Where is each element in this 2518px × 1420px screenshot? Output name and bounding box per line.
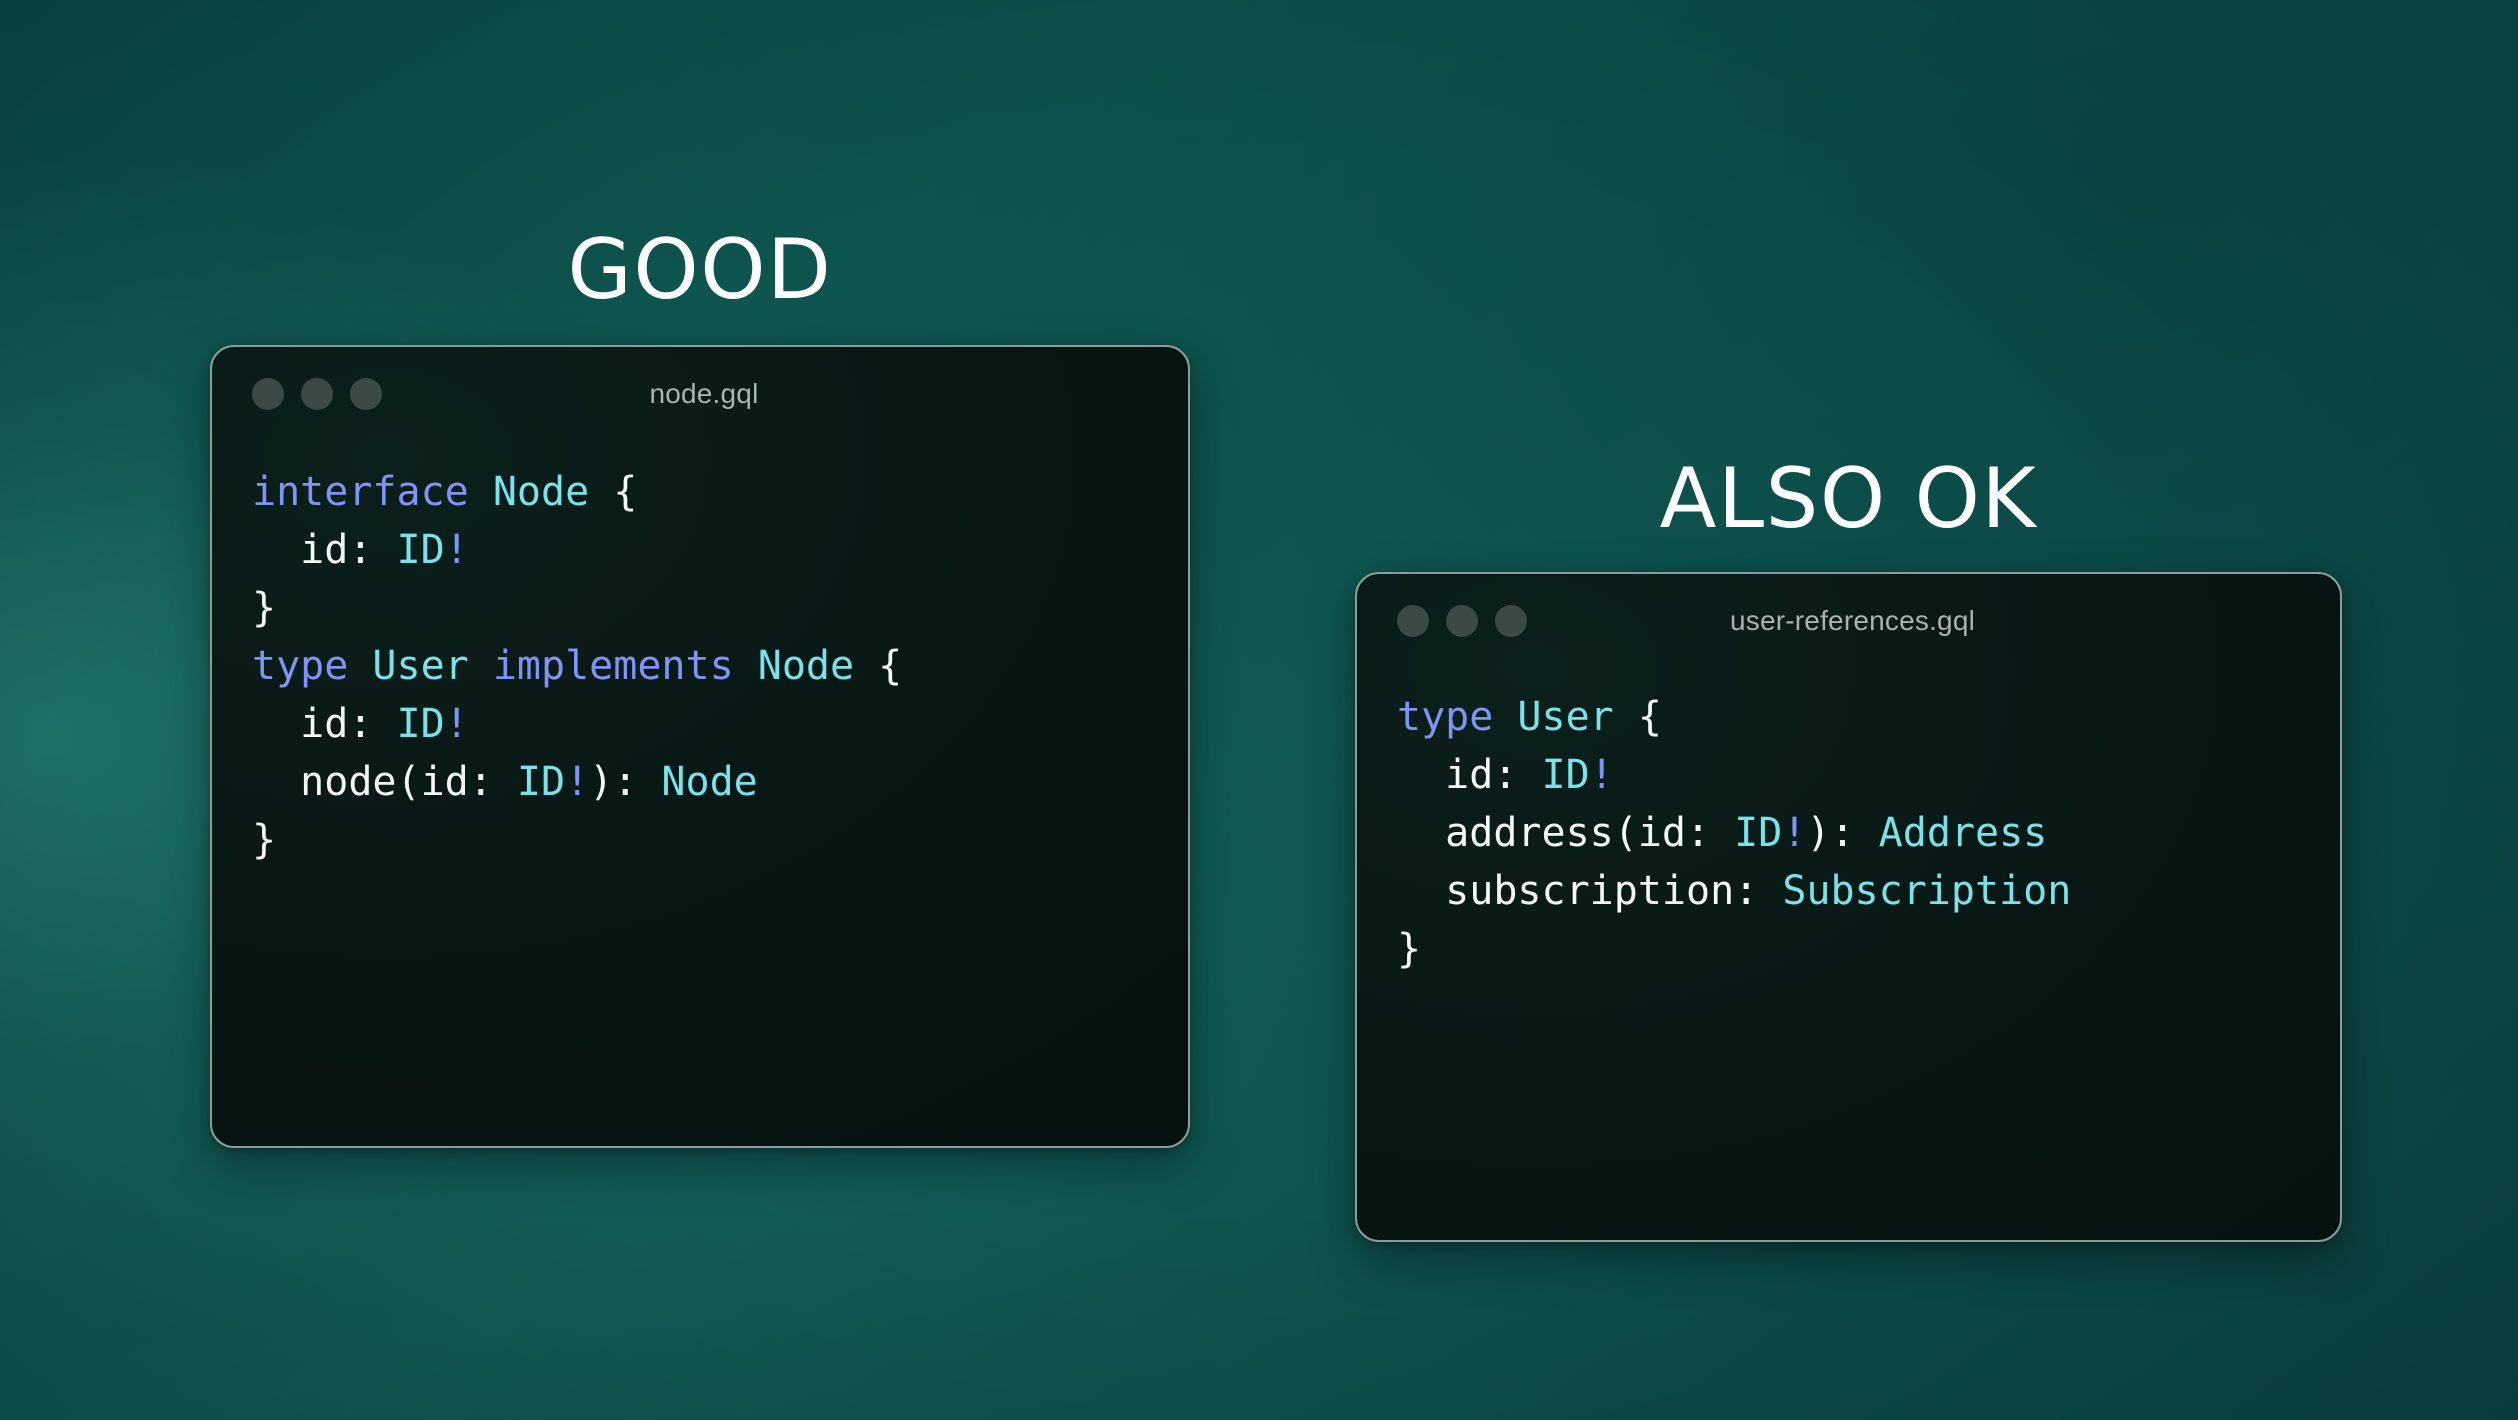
code-token-type: ID xyxy=(1734,810,1782,856)
code-token-plain xyxy=(348,643,372,689)
code-token-plain xyxy=(734,643,758,689)
code-token-plain: { xyxy=(854,643,902,689)
window-dot-close-icon[interactable] xyxy=(252,378,284,410)
code-token-plain xyxy=(469,469,493,515)
code-token-type: ID xyxy=(1542,752,1590,798)
window-controls xyxy=(252,378,382,410)
code-token-plain: { xyxy=(589,469,637,515)
code-line: node(id: ID!): Node xyxy=(252,753,1188,811)
code-line: address(id: ID!): Address xyxy=(1397,804,2340,862)
panel-heading-also-ok: ALSO OK xyxy=(1355,454,2342,544)
window-dot-maximize-icon[interactable] xyxy=(350,378,382,410)
panel-also-ok: ALSO OK user-references.gql type User { … xyxy=(1355,572,2342,1242)
window-dot-maximize-icon[interactable] xyxy=(1495,605,1527,637)
code-token-type: Address xyxy=(1879,810,2048,856)
code-card-also-ok: user-references.gql type User { id: ID! … xyxy=(1355,572,2342,1242)
code-token-plain: } xyxy=(252,585,276,631)
code-token-plain xyxy=(1493,694,1517,740)
code-token-bang: ! xyxy=(445,701,469,747)
code-token-plain: { xyxy=(1614,694,1662,740)
code-line: } xyxy=(252,579,1188,637)
code-token-kw: type xyxy=(252,643,348,689)
code-token-kw: type xyxy=(1397,694,1493,740)
code-token-bang: ! xyxy=(565,759,589,805)
code-token-kw: interface xyxy=(252,469,469,515)
code-line: id: ID! xyxy=(252,521,1188,579)
code-token-type: Subscription xyxy=(1782,868,2071,914)
code-line: } xyxy=(252,811,1188,869)
code-token-bang: ! xyxy=(445,527,469,573)
card-titlebar: node.gql xyxy=(212,347,1188,441)
code-token-bang: ! xyxy=(1590,752,1614,798)
code-token-type: ID xyxy=(517,759,565,805)
code-token-type: Node xyxy=(661,759,757,805)
panel-heading-good: GOOD xyxy=(210,225,1190,315)
card-titlebar: user-references.gql xyxy=(1357,574,2340,668)
code-token-plain: } xyxy=(1397,926,1421,972)
code-token-type: User xyxy=(372,643,468,689)
code-token-type: ID xyxy=(397,701,445,747)
window-dot-close-icon[interactable] xyxy=(1397,605,1429,637)
code-token-plain: id: xyxy=(252,527,397,573)
code-block: interface Node { id: ID!}type User imple… xyxy=(212,441,1188,869)
code-token-type: ID xyxy=(397,527,445,573)
window-dot-minimize-icon[interactable] xyxy=(1446,605,1478,637)
code-token-type: User xyxy=(1517,694,1613,740)
code-line: id: ID! xyxy=(1397,746,2340,804)
code-token-type: Node xyxy=(758,643,854,689)
code-line: id: ID! xyxy=(252,695,1188,753)
code-token-plain: id: xyxy=(1397,752,1542,798)
code-line: type User { xyxy=(1397,688,2340,746)
code-line: interface Node { xyxy=(252,463,1188,521)
code-token-plain: ): xyxy=(1806,810,1878,856)
code-token-plain: subscription: xyxy=(1397,868,1782,914)
code-line: subscription: Subscription xyxy=(1397,862,2340,920)
code-token-plain: address(id: xyxy=(1397,810,1734,856)
code-token-kw: implements xyxy=(493,643,734,689)
code-token-plain: ): xyxy=(589,759,661,805)
window-controls xyxy=(1397,605,1527,637)
window-dot-minimize-icon[interactable] xyxy=(301,378,333,410)
code-line: } xyxy=(1397,920,2340,978)
panel-good: GOOD node.gql interface Node { id: ID!}t… xyxy=(210,345,1190,1148)
code-token-plain xyxy=(469,643,493,689)
code-card-good: node.gql interface Node { id: ID!}type U… xyxy=(210,345,1190,1148)
code-token-plain: id: xyxy=(252,701,397,747)
code-token-plain: } xyxy=(252,817,276,863)
code-token-bang: ! xyxy=(1782,810,1806,856)
code-block: type User { id: ID! address(id: ID!): Ad… xyxy=(1357,668,2340,978)
code-token-type: Node xyxy=(493,469,589,515)
code-token-plain: node(id: xyxy=(252,759,517,805)
code-line: type User implements Node { xyxy=(252,637,1188,695)
